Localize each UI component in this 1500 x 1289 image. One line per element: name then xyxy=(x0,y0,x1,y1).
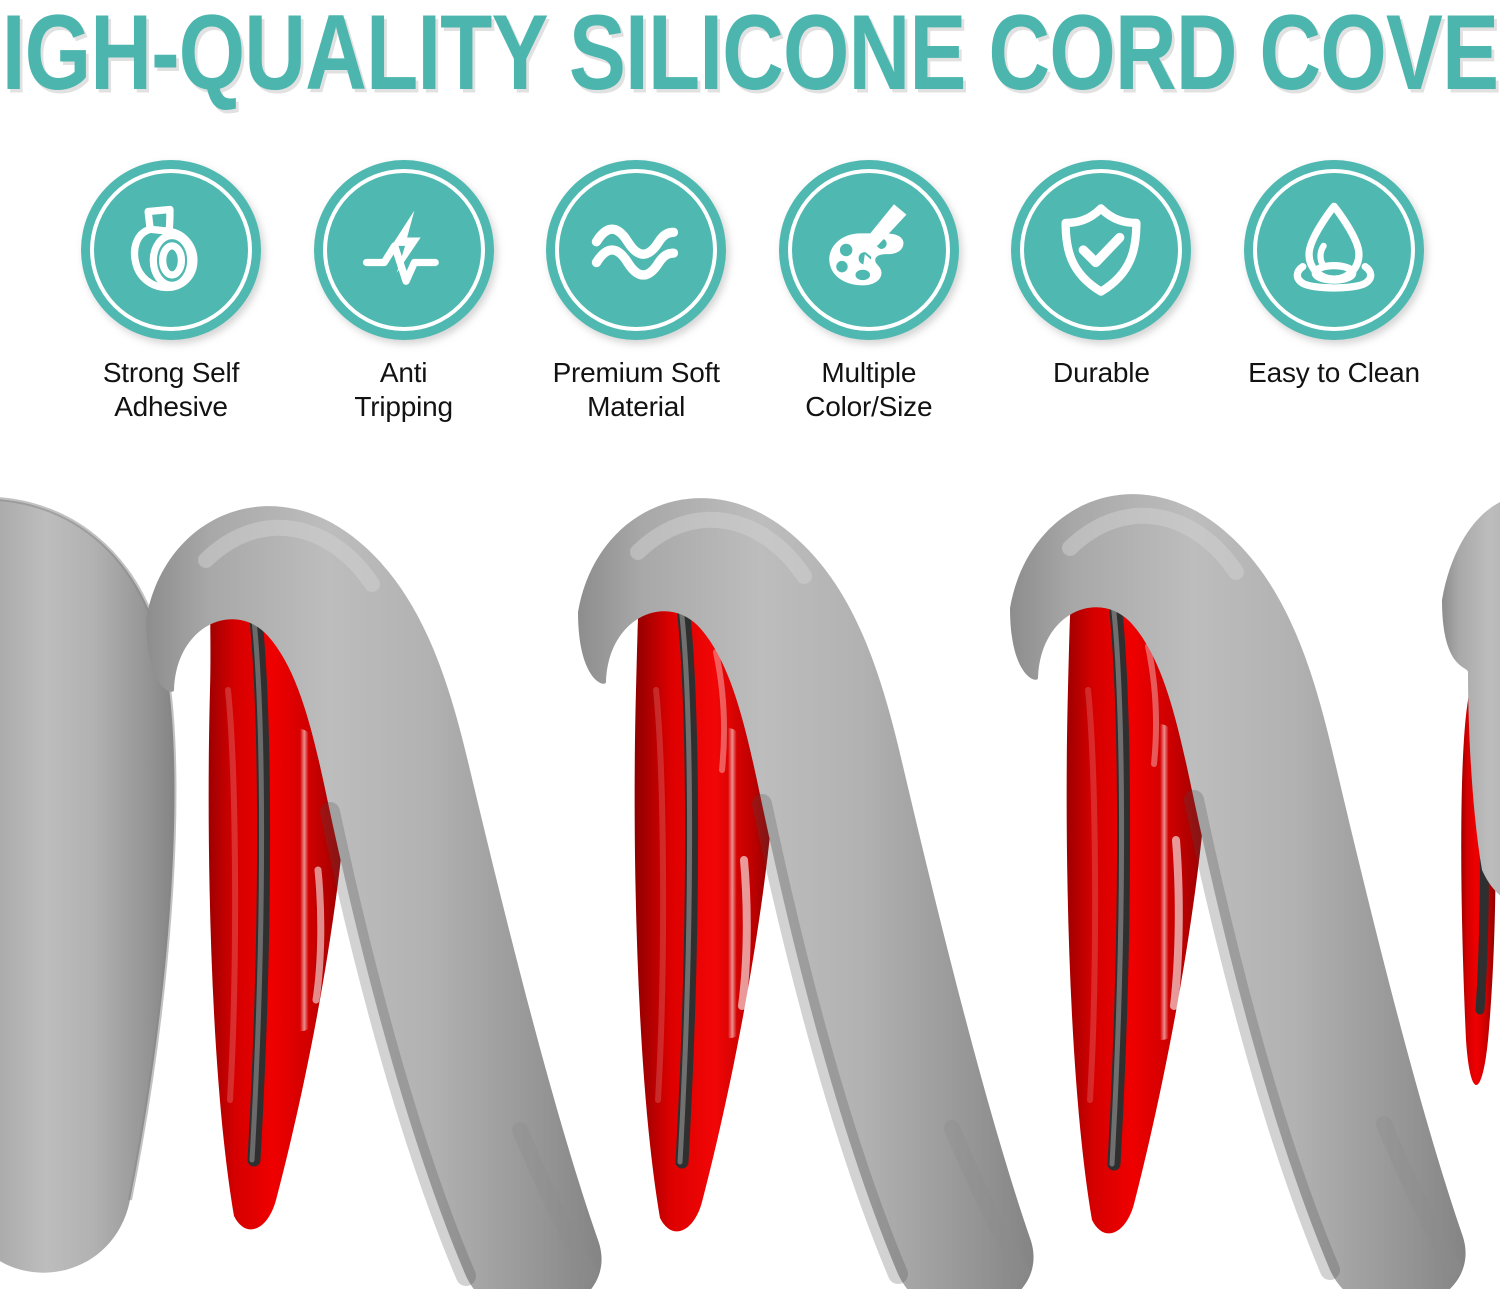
title-banner: HIGH-QUALITY SILICONE CORD COVER xyxy=(0,0,1500,105)
feature-label: Multiple Color/Size xyxy=(805,356,932,424)
feature-item-anti-tripping: Anti Tripping xyxy=(288,160,520,424)
product-infographic: HIGH-QUALITY SILICONE CORD COVER Strong … xyxy=(0,0,1500,1289)
feature-item-premium-soft-material: Premium Soft Material xyxy=(520,160,752,424)
feature-badge xyxy=(1011,160,1191,340)
feature-item-easy-to-clean: Easy to Clean xyxy=(1218,160,1450,390)
shield-check-icon xyxy=(1049,198,1153,302)
double-wave-icon xyxy=(584,198,688,302)
feature-badge xyxy=(1244,160,1424,340)
feature-badge xyxy=(779,160,959,340)
feature-label: Easy to Clean xyxy=(1248,356,1420,390)
feature-badge xyxy=(81,160,261,340)
feature-label: Strong Self Adhesive xyxy=(103,356,239,424)
coiled-cord-cover-illustration xyxy=(0,440,1500,1289)
feature-label: Durable xyxy=(1053,356,1150,390)
page-title: HIGH-QUALITY SILICONE CORD COVER xyxy=(0,0,1500,108)
feature-list: Strong Self Adhesive Anti Tripping xyxy=(55,160,1450,440)
feature-label: Premium Soft Material xyxy=(553,356,720,424)
feature-label: Anti Tripping xyxy=(354,356,453,424)
feature-item-multiple-color-size: Multiple Color/Size xyxy=(753,160,985,424)
paint-palette-brush-icon xyxy=(817,198,921,302)
feature-badge xyxy=(546,160,726,340)
feature-item-strong-self-adhesive: Strong Self Adhesive xyxy=(55,160,287,424)
product-photo xyxy=(0,440,1500,1289)
feature-badge xyxy=(314,160,494,340)
lightning-pulse-icon xyxy=(352,198,456,302)
water-droplet-ripple-icon xyxy=(1282,198,1386,302)
feature-item-durable: Durable xyxy=(985,160,1217,390)
adhesive-tape-roll-icon xyxy=(119,198,223,302)
